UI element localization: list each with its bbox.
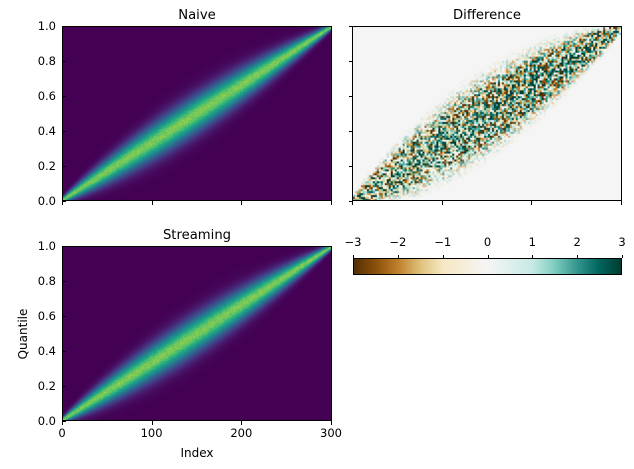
yticklabel-naive-5: 1.0 <box>22 21 56 33</box>
streaming-title: Streaming <box>62 229 332 242</box>
cbar-ticklabel-5: 2 <box>557 237 597 249</box>
ytick-streaming-5 <box>62 246 66 247</box>
yticklabel-streaming-0: 0.0 <box>22 416 56 428</box>
ytick-naive-1 <box>62 166 66 167</box>
cbar-ticklabel-3: 0 <box>468 237 508 249</box>
axes-streaming <box>62 246 332 421</box>
yticklabel-streaming-5: 1.0 <box>22 241 56 253</box>
difference-colorbar <box>353 258 622 275</box>
yticklabel-naive-2: 0.4 <box>22 126 56 138</box>
ytick-streaming-1 <box>62 386 66 387</box>
difference-title: Difference <box>352 9 622 22</box>
yaxis-label-quantile: Quantile <box>17 284 29 384</box>
xticklabel-streaming-3: 300 <box>301 428 361 440</box>
ytick-naive-3 <box>62 96 66 97</box>
naive-title: Naive <box>62 9 332 22</box>
cbar-tick-3 <box>488 255 489 259</box>
xtick-streaming-0 <box>62 421 63 425</box>
ytick-difference-4 <box>349 61 353 62</box>
cbar-tick-1 <box>398 255 399 259</box>
xtick-streaming-1 <box>152 421 153 425</box>
cbar-ticklabel-1: −2 <box>378 237 418 249</box>
yticklabel-naive-4: 0.8 <box>22 56 56 68</box>
xticklabel-streaming-2: 200 <box>211 428 271 440</box>
yticklabel-naive-0: 0.0 <box>22 196 56 208</box>
xtick-difference-1 <box>442 201 443 205</box>
heatmap-streaming <box>63 247 331 420</box>
heatmap-naive <box>63 27 331 200</box>
axes-naive <box>62 26 332 201</box>
ytick-streaming-4 <box>62 281 66 282</box>
ytick-naive-5 <box>62 26 66 27</box>
ytick-difference-2 <box>349 131 353 132</box>
xtick-difference-2 <box>531 201 532 205</box>
xticklabel-streaming-0: 0 <box>32 428 92 440</box>
xtick-naive-1 <box>152 201 153 205</box>
xticklabel-streaming-1: 100 <box>122 428 182 440</box>
xtick-naive-0 <box>62 201 63 205</box>
xtick-difference-3 <box>621 201 622 205</box>
cbar-tick-5 <box>577 255 578 259</box>
ytick-difference-5 <box>349 26 353 27</box>
cbar-tick-2 <box>443 255 444 259</box>
ytick-naive-2 <box>62 131 66 132</box>
ytick-naive-4 <box>62 61 66 62</box>
ytick-difference-3 <box>349 96 353 97</box>
xtick-streaming-3 <box>331 421 332 425</box>
heatmap-difference <box>353 27 621 200</box>
axes-difference <box>352 26 622 201</box>
matplotlib-figure: Naive 0.0 0.2 0.4 0.6 0.8 1.0 Difference… <box>0 0 634 469</box>
ytick-streaming-3 <box>62 316 66 317</box>
cbar-ticklabel-0: −3 <box>333 237 373 249</box>
xaxis-label-index: Index <box>62 447 332 459</box>
xtick-streaming-2 <box>241 421 242 425</box>
ytick-streaming-2 <box>62 351 66 352</box>
ytick-difference-1 <box>349 166 353 167</box>
cbar-ticklabel-2: −1 <box>423 237 463 249</box>
cbar-tick-4 <box>532 255 533 259</box>
colorbar-container <box>353 258 622 275</box>
yticklabel-naive-1: 0.2 <box>22 161 56 173</box>
xtick-naive-2 <box>241 201 242 205</box>
cbar-tick-0 <box>353 255 354 259</box>
cbar-ticklabel-4: 1 <box>512 237 552 249</box>
yticklabel-naive-3: 0.6 <box>22 91 56 103</box>
cbar-ticklabel-6: 3 <box>602 237 634 249</box>
xtick-difference-0 <box>352 201 353 205</box>
cbar-tick-6 <box>622 255 623 259</box>
xtick-naive-3 <box>331 201 332 205</box>
